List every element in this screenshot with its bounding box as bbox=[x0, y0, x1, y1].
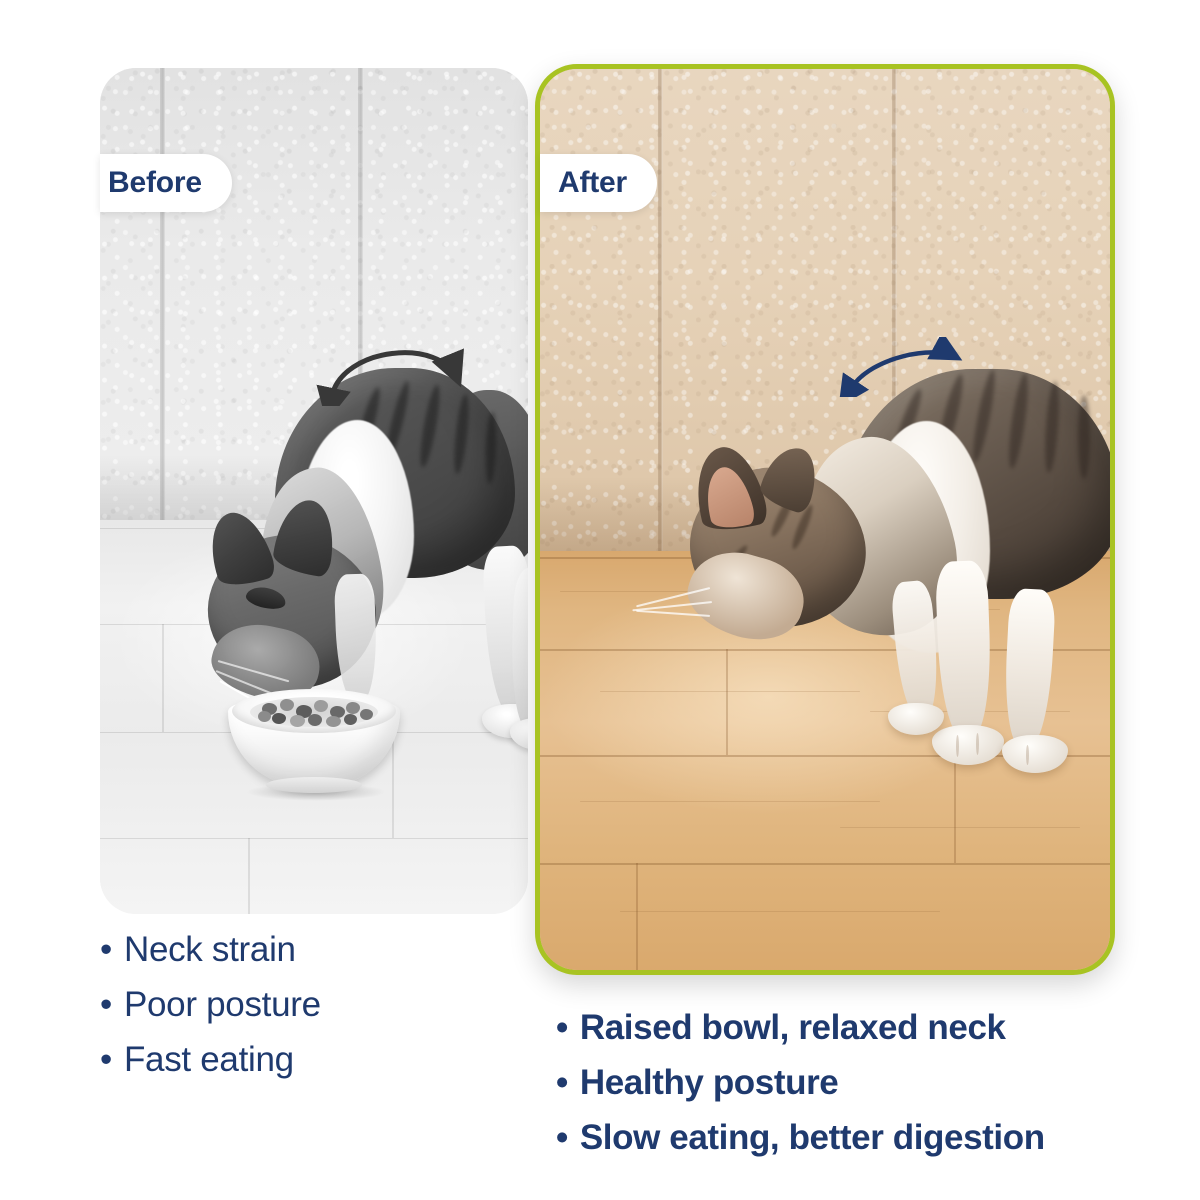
before-label-pill: Before bbox=[100, 154, 232, 212]
before-flat-bowl bbox=[228, 685, 400, 791]
list-item: • Slow eating, better digestion bbox=[556, 1110, 1045, 1165]
after-label-pill: After bbox=[540, 154, 657, 212]
list-item: • Fast eating bbox=[100, 1032, 321, 1087]
list-item-label: Fast eating bbox=[124, 1032, 294, 1087]
list-item-label: Raised bowl, relaxed neck bbox=[580, 1000, 1006, 1055]
after-label-text: After bbox=[540, 168, 627, 198]
list-item-label: Healthy posture bbox=[580, 1055, 839, 1110]
bullet-marker-icon: • bbox=[100, 1032, 112, 1087]
before-label-text: Before bbox=[100, 168, 202, 198]
list-item-label: Neck strain bbox=[124, 922, 296, 977]
list-item: • Raised bowl, relaxed neck bbox=[556, 1000, 1045, 1055]
list-item-label: Poor posture bbox=[124, 977, 321, 1032]
list-item: • Neck strain bbox=[100, 922, 321, 977]
bullet-marker-icon: • bbox=[556, 1055, 568, 1110]
bullet-marker-icon: • bbox=[100, 922, 112, 977]
bullet-marker-icon: • bbox=[556, 1000, 568, 1055]
before-benefits-list: • Neck strain • Poor posture • Fast eati… bbox=[100, 922, 321, 1087]
list-item-label: Slow eating, better digestion bbox=[580, 1110, 1045, 1165]
bullet-marker-icon: • bbox=[100, 977, 112, 1032]
list-item: • Poor posture bbox=[100, 977, 321, 1032]
comparison-graphic: slowly Before After bbox=[0, 0, 1200, 1200]
list-item: • Healthy posture bbox=[556, 1055, 1045, 1110]
bullet-marker-icon: • bbox=[556, 1110, 568, 1165]
after-benefits-list: • Raised bowl, relaxed neck • Healthy po… bbox=[556, 1000, 1045, 1165]
